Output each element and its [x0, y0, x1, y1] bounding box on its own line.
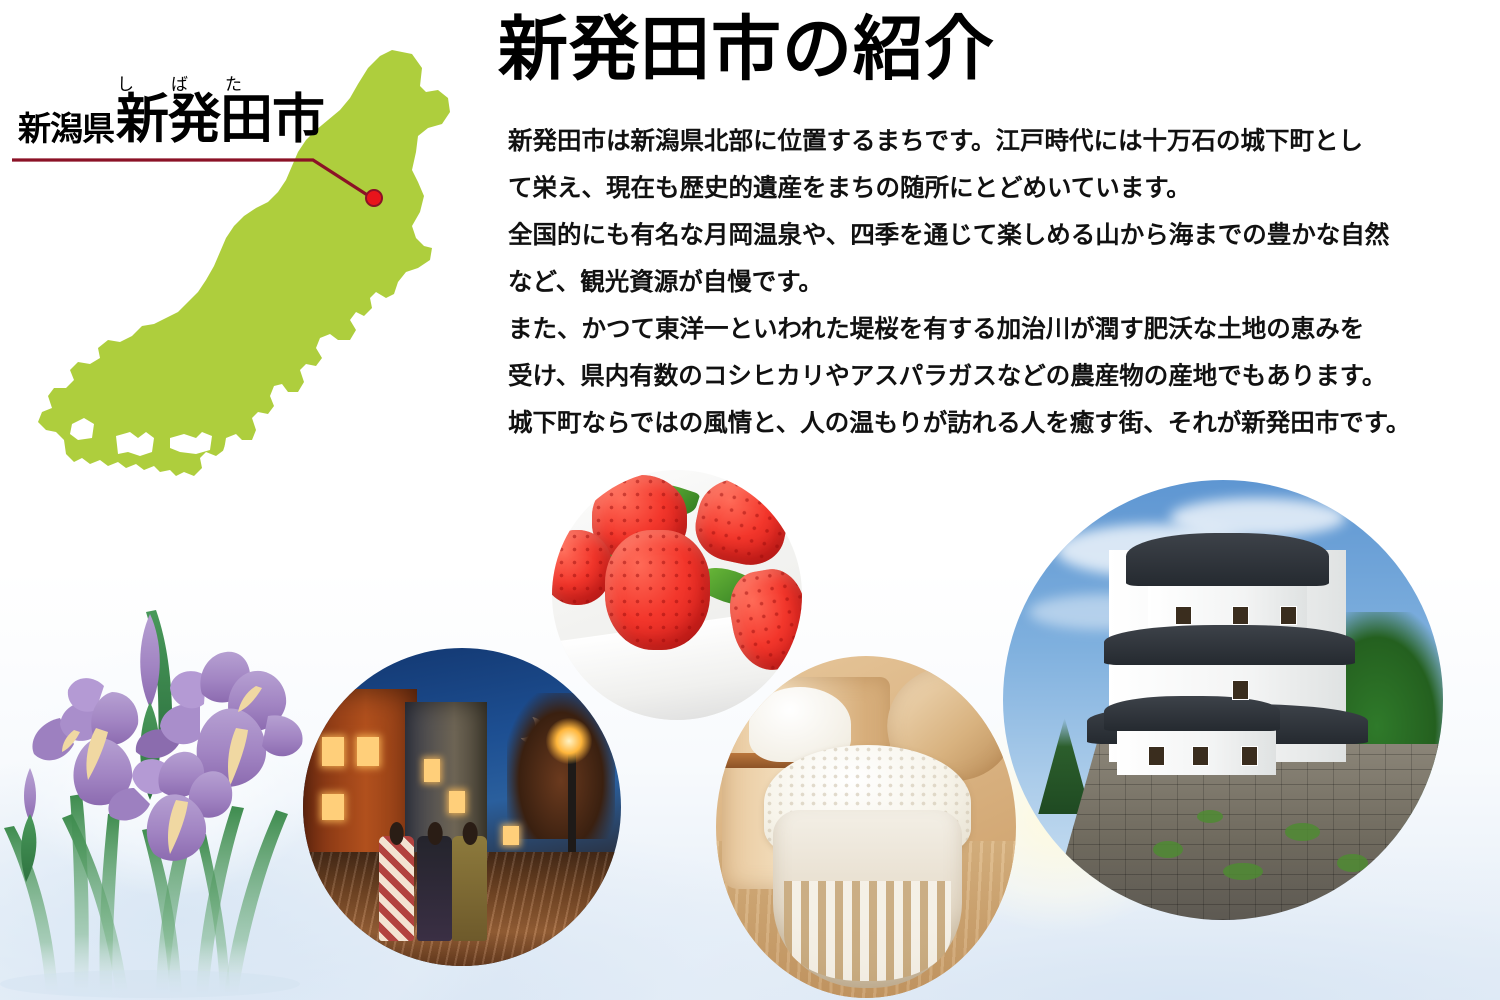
onsen-person-3 — [452, 836, 487, 941]
iris-flower-left — [32, 678, 138, 805]
onsen-window-5 — [449, 791, 465, 813]
intro-text-block: 新発田市は新潟県北部に位置するまちです。江戸時代には十万石の城下町とし て栄え、… — [508, 118, 1474, 447]
castle-window-3 — [1280, 606, 1297, 626]
strawberry-4 — [605, 530, 710, 650]
iris-leaf-4 — [62, 814, 128, 994]
intro-line-7: 城下町ならではの風情と、人の温もりが訪れる人を癒す街、それが新発田市です。 — [508, 400, 1474, 447]
page-title: 新発田市の紹介 — [498, 14, 995, 88]
castle-roof-top — [1126, 533, 1328, 586]
castle-window-4 — [1232, 680, 1249, 700]
rice-bowl — [773, 810, 962, 988]
leader-line — [12, 160, 372, 198]
intro-line-1: 新発田市は新潟県北部に位置するまちです。江戸時代には十万石の城下町とし — [508, 118, 1474, 165]
castle-window-7 — [1241, 746, 1258, 766]
niigata-notch-3 — [222, 442, 250, 464]
iris-flowers-illustration — [0, 600, 330, 1000]
photo-onsen — [303, 648, 621, 966]
onsen-person-1 — [379, 836, 414, 941]
onsen-tree — [507, 693, 615, 839]
onsen-person-3-head — [463, 822, 478, 845]
onsen-person-1-head — [389, 822, 404, 845]
onsen-person-2-head — [428, 822, 443, 845]
castle-window-2 — [1232, 606, 1249, 626]
onsen-window-4 — [424, 759, 440, 781]
intro-line-2: て栄え、現在も歴史的遺産をまちの随所にとどめいています。 — [508, 165, 1474, 212]
castle-window-1 — [1175, 606, 1192, 626]
intro-line-6: 受け、県内有数のコシヒカリやアスパラガスなどの農産物の産地でもあります。 — [508, 353, 1474, 400]
castle-roof-porch — [1104, 696, 1280, 731]
intro-line-3: 全国的にも有名な月岡温泉や、四季を通じて楽しめる山から海までの豊かな自然 — [508, 212, 1474, 259]
onsen-window-2 — [357, 737, 379, 766]
castle-window-5 — [1148, 746, 1165, 766]
onsen-window-6 — [503, 826, 519, 845]
castle-window-6 — [1192, 746, 1209, 766]
photo-castle — [1003, 480, 1443, 920]
intro-line-4: など、観光資源が自慢です。 — [508, 259, 1474, 306]
onsen-person-2 — [417, 836, 452, 941]
castle-grass-3 — [1285, 823, 1320, 841]
castle-roof-mid — [1104, 625, 1355, 665]
leader-line-group — [0, 140, 420, 220]
shibata-city-marker — [366, 190, 382, 206]
castle-grass-2 — [1223, 863, 1263, 881]
intro-line-5: また、かつて東洋一といわれた堤桜を有する加治川が潤す肥沃な土地の恵みを — [508, 306, 1474, 353]
iris-bud-left — [21, 768, 36, 882]
photo-rice — [716, 656, 1016, 998]
poster-canvas: し ば た 新潟県 新発田市 新発田市の紹介 新発田市は新潟県北部に位置するまち… — [0, 0, 1500, 1000]
castle-cloud-2 — [1170, 498, 1346, 538]
iris-water-reflection — [0, 970, 300, 998]
castle-grass-4 — [1337, 854, 1368, 872]
